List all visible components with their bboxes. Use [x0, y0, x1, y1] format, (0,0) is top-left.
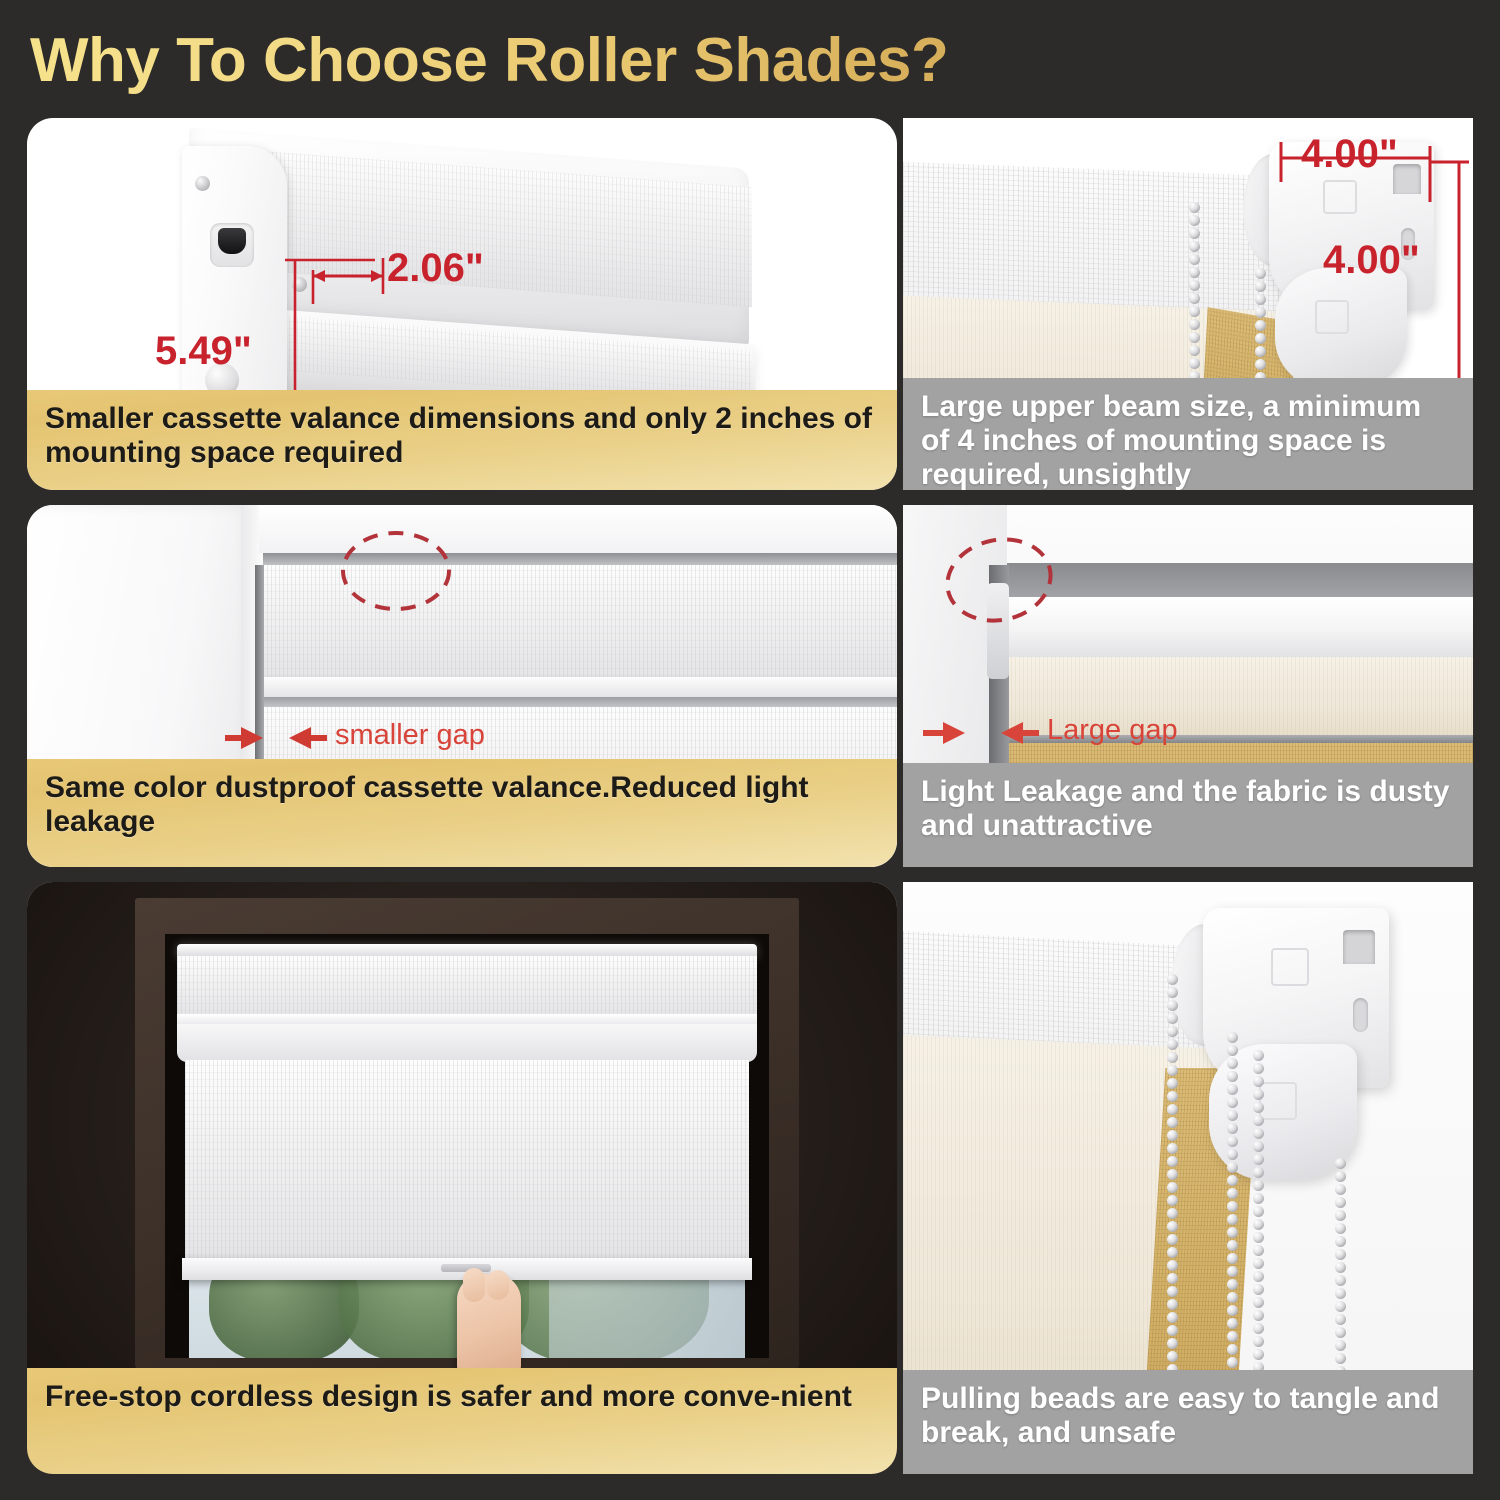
caption-cassette-dimensions: Smaller cassette valance dimensions and … [27, 390, 897, 490]
caption-large-gap: Light Leakage and the fabric is dusty an… [903, 763, 1473, 867]
panel-smaller-gap: smaller gap Same color dustproof cassett… [27, 505, 897, 867]
fabric-roll-lip [177, 1024, 757, 1062]
dimension-label-beam-height: 4.00" [1323, 238, 1420, 283]
title-bar: Why To Choose Roller Shades? [30, 22, 1230, 100]
caption-large-upper-beam: Large upper beam size, a minimum of 4 in… [903, 378, 1473, 490]
dimension-label-width: 2.06" [387, 246, 484, 291]
bracket-slot-a [1343, 930, 1375, 964]
caption-pulling-beads: Pulling beads are easy to tangle and bre… [903, 1370, 1473, 1474]
bracket-logo-icon-upper [1271, 948, 1309, 986]
panel-cassette-dimensions: 2.06" 5.49" Smaller cassette valance dim… [27, 118, 897, 490]
cassette-valance [177, 956, 757, 1018]
caption-cordless-design: Free-stop cordless design is safer and m… [27, 1368, 897, 1474]
panel-pulling-beads: Pulling beads are easy to tangle and bre… [903, 882, 1473, 1474]
bracket-logo-icon-lower [1259, 1082, 1297, 1120]
panel-large-upper-beam: 4.00" 4.00" Large upper beam size, a min… [903, 118, 1473, 490]
bracket-slot-b [1353, 998, 1368, 1032]
caption-smaller-gap: Same color dustproof cassette valance.Re… [27, 759, 897, 867]
gap-label-large: Large gap [1047, 714, 1178, 747]
dimension-label-height: 5.49" [155, 329, 252, 374]
panel-large-gap: Large gap Light Leakage and the fabric i… [903, 505, 1473, 867]
dimension-label-beam-width: 4.00" [1301, 132, 1398, 177]
finger-thumb [487, 1270, 509, 1300]
panel-cordless-design: Free-stop cordless design is safer and m… [27, 882, 897, 1474]
shade-fabric-main [185, 1060, 749, 1262]
gap-label-smaller: smaller gap [335, 719, 485, 752]
page-title: Why To Choose Roller Shades? [30, 22, 1230, 100]
finger-index [463, 1268, 485, 1302]
